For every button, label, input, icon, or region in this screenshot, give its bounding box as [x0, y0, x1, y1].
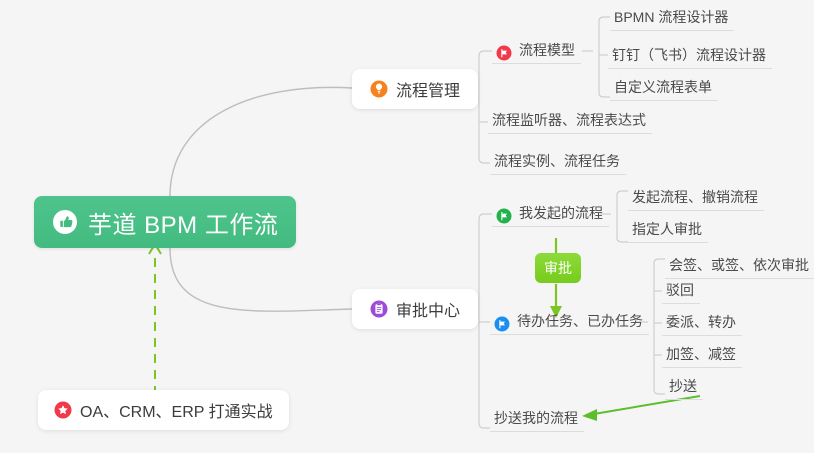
leaf-label: 会签、或签、依次审批 [669, 255, 809, 278]
root-node[interactable]: 芋道 BPM 工作流 [34, 196, 296, 248]
leaf-label: 钉钉（飞书）流程设计器 [612, 45, 766, 68]
flag-icon [496, 208, 512, 226]
branch-label: 流程管理 [396, 77, 460, 101]
leaf-label: 抄送 [669, 376, 697, 399]
leaf-process-instance[interactable]: 流程实例、流程任务 [490, 147, 626, 175]
leaf-cc-my-process[interactable]: 抄送我的流程 [490, 404, 584, 432]
edge-todo-leaf1 [654, 259, 665, 268]
leaf-custom-form[interactable]: 自定义流程表单 [610, 73, 718, 101]
leaf-label: 驳回 [666, 280, 694, 303]
edge-model-leaf1 [599, 17, 610, 26]
edge-pm-to-instance [479, 152, 490, 163]
branch-process-management[interactable]: 流程管理 [352, 69, 478, 109]
approval-badge[interactable]: 审批 [535, 253, 581, 283]
flag-icon [496, 45, 512, 63]
edge-root-to-approval-center [170, 248, 352, 311]
leaf-reject[interactable]: 驳回 [662, 276, 700, 304]
leaf-label: 加签、减签 [666, 344, 736, 367]
node-todo-done-tasks[interactable]: 待办任务、已办任务 [490, 307, 649, 335]
edge-mine-leaf1 [617, 191, 628, 200]
leaf-label: 流程监听器、流程表达式 [492, 110, 646, 133]
edge-ac-to-mine [479, 214, 492, 225]
approval-badge-label: 审批 [544, 258, 572, 278]
edge-todo-leaf5 [654, 385, 665, 394]
edge-model-leaf3 [599, 88, 610, 97]
leaf-assigned-approval[interactable]: 指定人审批 [628, 215, 708, 243]
thumbs-up-icon [52, 209, 78, 235]
leaf-process-listener[interactable]: 流程监听器、流程表达式 [488, 106, 652, 134]
node-my-initiated-process[interactable]: 我发起的流程 [492, 199, 609, 227]
annotation-node-label: OA、CRM、ERP 打通实战 [80, 398, 273, 422]
node-label: 待办任务、已办任务 [517, 311, 643, 334]
flag-icon [494, 316, 510, 334]
mindmap-canvas: 芋道 BPM 工作流 流程管理 流程模型 BPMN 流程设计器 钉钉（飞书）流程… [0, 0, 814, 453]
edge-mine-leaf2 [617, 233, 628, 242]
clipboard-icon [370, 300, 388, 318]
leaf-label: 自定义流程表单 [614, 77, 712, 100]
leaf-dingtalk-designer[interactable]: 钉钉（飞书）流程设计器 [608, 41, 772, 69]
node-label: 我发起的流程 [519, 203, 603, 226]
leaf-label: 抄送我的流程 [494, 408, 578, 431]
branch-label: 审批中心 [396, 297, 460, 321]
lightbulb-icon [370, 80, 388, 98]
star-icon [54, 401, 72, 419]
leaf-carbon-copy[interactable]: 抄送 [665, 372, 703, 400]
leaf-bpmn-designer[interactable]: BPMN 流程设计器 [610, 3, 734, 31]
leaf-label: 委派、转办 [666, 312, 736, 335]
branch-approval-center[interactable]: 审批中心 [352, 289, 478, 329]
leaf-delegate-transfer[interactable]: 委派、转办 [662, 308, 742, 336]
arrow-cc-head [582, 409, 597, 421]
node-label: 流程模型 [519, 40, 575, 63]
node-process-model[interactable]: 流程模型 [492, 36, 581, 64]
annotation-node-integration[interactable]: OA、CRM、ERP 打通实战 [38, 390, 289, 430]
leaf-countersign[interactable]: 会签、或签、依次审批 [665, 251, 814, 279]
leaf-label: BPMN 流程设计器 [614, 7, 728, 30]
leaf-label: 流程实例、流程任务 [494, 151, 620, 174]
edge-ac-to-cc [479, 418, 490, 428]
leaf-label: 指定人审批 [632, 219, 702, 242]
leaf-start-cancel-process[interactable]: 发起流程、撤销流程 [628, 183, 764, 211]
leaf-label: 发起流程、撤销流程 [632, 187, 758, 210]
root-label: 芋道 BPM 工作流 [88, 205, 278, 240]
edge-pm-to-model [479, 51, 492, 62]
edge-root-to-process-management [170, 87, 352, 196]
leaf-add-remove-sign[interactable]: 加签、减签 [662, 340, 742, 368]
